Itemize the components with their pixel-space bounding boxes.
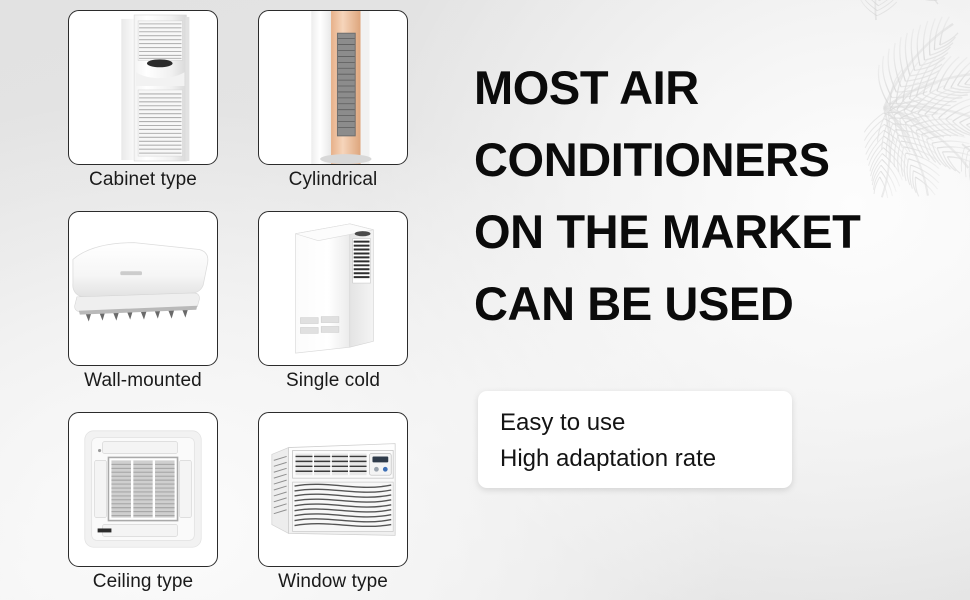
product-card[interactable] <box>68 211 218 366</box>
ceiling-cassette-air-conditioner-photo <box>69 413 217 566</box>
product-cell-window-type[interactable]: Window type <box>258 412 408 597</box>
product-label: Wall-mounted <box>68 366 218 396</box>
product-label: Cylindrical <box>258 165 408 195</box>
product-label: Ceiling type <box>68 567 218 597</box>
product-label: Cabinet type <box>68 165 218 195</box>
product-cell-cabinet-type[interactable]: Cabinet type <box>68 10 218 195</box>
headline: MOST AIR CONDITIONERS ON THE MARKET CAN … <box>474 52 944 340</box>
feature-line-easy-to-use: Easy to use <box>500 405 792 441</box>
feature-line-high-adaptation-rate: High adaptation rate <box>500 441 792 477</box>
headline-line-2: CONDITIONERS <box>474 124 944 196</box>
portable-single-cold-air-conditioner-photo <box>259 212 407 365</box>
headline-line-3: ON THE MARKET <box>474 196 944 268</box>
feature-callout-box: Easy to use High adaptation rate <box>478 391 792 488</box>
product-card[interactable] <box>258 10 408 165</box>
headline-line-1: MOST AIR <box>474 52 944 124</box>
product-cell-ceiling-type[interactable]: Ceiling type <box>68 412 218 597</box>
cylindrical-air-conditioner-photo <box>259 11 407 164</box>
window-air-conditioner-photo <box>259 413 407 566</box>
product-label: Window type <box>258 567 408 597</box>
product-type-grid: Cabinet type <box>68 10 408 600</box>
product-cell-cylindrical[interactable]: Cylindrical <box>258 10 408 195</box>
product-card[interactable] <box>68 10 218 165</box>
wall-mounted-air-conditioner-photo <box>69 212 217 365</box>
product-feature-banner: Cabinet type <box>0 0 970 600</box>
headline-line-4: CAN BE USED <box>474 268 944 340</box>
product-card[interactable] <box>258 211 408 366</box>
product-card[interactable] <box>258 412 408 567</box>
product-cell-wall-mounted[interactable]: Wall-mounted <box>68 211 218 396</box>
product-card[interactable] <box>68 412 218 567</box>
product-cell-single-cold[interactable]: Single cold <box>258 211 408 396</box>
cabinet-air-conditioner-photo <box>69 11 217 164</box>
product-label: Single cold <box>258 366 408 396</box>
